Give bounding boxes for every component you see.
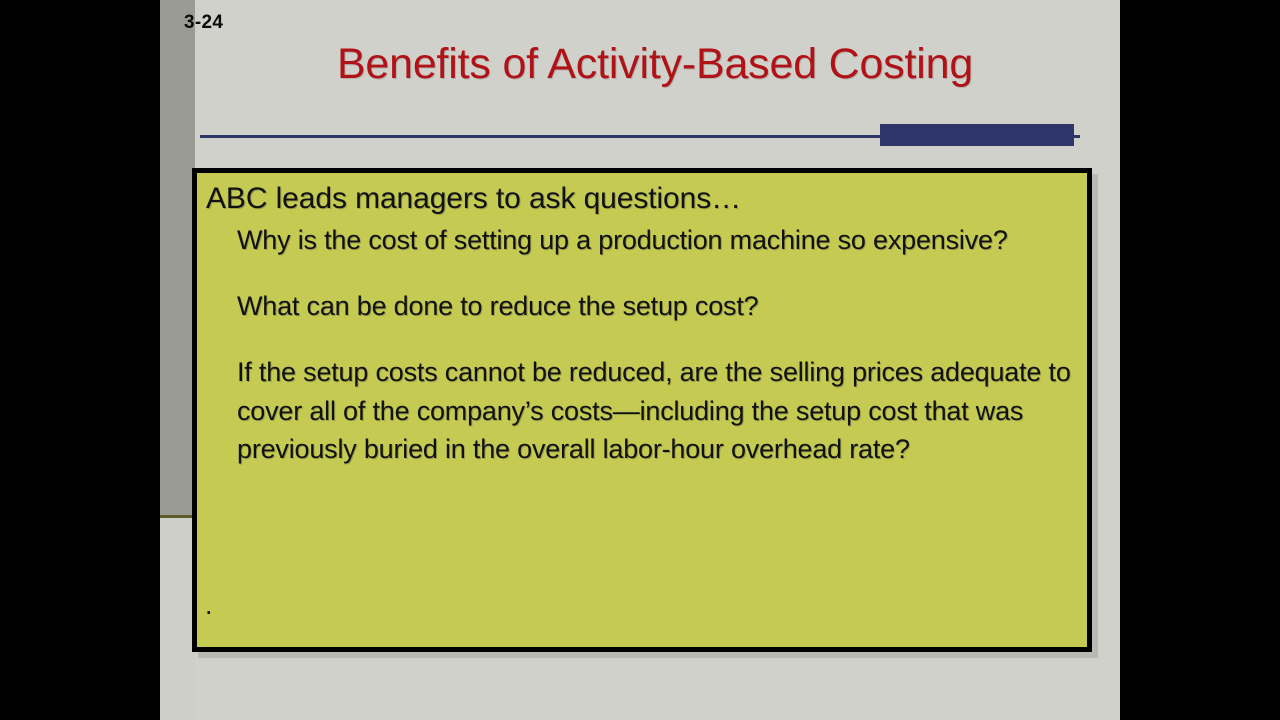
- presentation-slide: 3-24 Benefits of Activity-Based Costing …: [160, 0, 1120, 720]
- slide-left-accent-band: [160, 0, 195, 518]
- question-item-1: Why is the cost of setting up a producti…: [206, 221, 1077, 259]
- question-item-2: What can be done to reduce the setup cos…: [206, 287, 1077, 325]
- content-heading: ABC leads managers to ask questions…: [206, 182, 1077, 217]
- slide-left-accent-band-lower: [160, 518, 195, 720]
- letterbox-bar-left: [0, 0, 160, 720]
- content-body: ABC leads managers to ask questions… Why…: [197, 173, 1087, 647]
- slide-number: 3-24: [184, 12, 223, 34]
- letterbox-bar-right: [1120, 0, 1280, 720]
- content-box: ABC leads managers to ask questions… Why…: [192, 168, 1092, 652]
- slide-viewport: 3-24 Benefits of Activity-Based Costing …: [0, 0, 1280, 720]
- question-item-3: If the setup costs cannot be reduced, ar…: [206, 353, 1077, 468]
- page-title: Benefits of Activity-Based Costing: [215, 40, 1095, 89]
- title-divider-accent-tab: [880, 124, 1074, 146]
- trailing-period-mark: .: [205, 592, 213, 619]
